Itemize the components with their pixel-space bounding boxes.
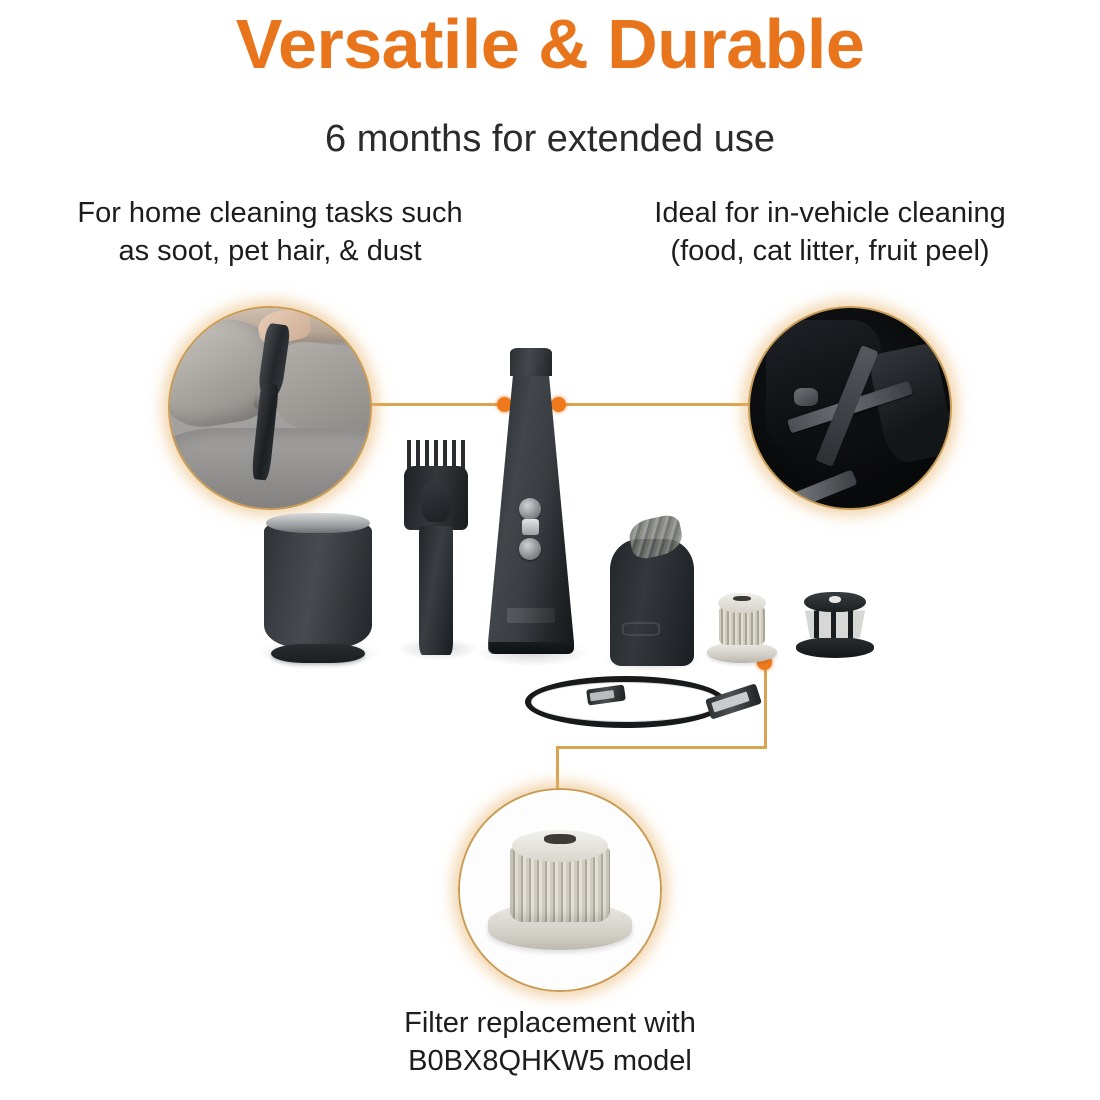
callout-bottom-photo xyxy=(458,788,662,992)
callout-bottom-caption: Filter replacement with B0BX8QHKW5 model xyxy=(290,1004,810,1081)
infographic-canvas: Versatile & Durable 6 months for extende… xyxy=(0,0,1100,1100)
callout-right-line2: (food, cat litter, fruit peel) xyxy=(570,232,1090,270)
hepa-filter-base xyxy=(707,642,776,663)
dust-cup-rim xyxy=(266,513,369,533)
pouch-body xyxy=(610,539,694,666)
brand-logo xyxy=(507,608,555,623)
callout-right-photo xyxy=(748,306,952,510)
vacuum-base xyxy=(489,642,573,654)
usb-a-connector-icon xyxy=(705,683,762,719)
product-storage-pouch xyxy=(610,518,694,666)
callout-left-photo xyxy=(168,306,372,510)
product-dust-cup xyxy=(262,513,374,663)
page-title: Versatile & Durable xyxy=(0,8,1100,82)
callout-bottom-line2: B0BX8QHKW5 model xyxy=(290,1042,810,1080)
product-handheld-vacuum xyxy=(488,348,574,654)
indicator-port-icon xyxy=(522,519,539,534)
filter-closeup-center-hole xyxy=(544,834,576,844)
product-brush-crevice-tool xyxy=(400,440,472,655)
connector-line-filter-horizontal xyxy=(556,746,767,749)
brush-head-pad xyxy=(422,483,451,522)
callout-left-line1: For home cleaning tasks such xyxy=(10,194,530,232)
callout-left-caption: For home cleaning tasks such as soot, pe… xyxy=(10,194,530,271)
connector-line-right xyxy=(556,403,752,406)
mesh-filter-screen xyxy=(802,610,868,638)
product-mesh-filter xyxy=(796,592,874,658)
vacuum-top-cap xyxy=(510,348,551,376)
mesh-filter-center-hole xyxy=(829,596,841,603)
hepa-filter-center-hole xyxy=(733,596,750,602)
product-hepa-filter xyxy=(706,593,778,663)
callout-bottom-line1: Filter replacement with xyxy=(290,1004,810,1042)
callout-left-line2: as soot, pet hair, & dust xyxy=(10,232,530,270)
connector-line-filter-vertical-right xyxy=(764,662,767,748)
car-seatbelt-buckle xyxy=(794,388,818,406)
mesh-filter-base-ring xyxy=(796,637,874,658)
dust-cup-body xyxy=(264,524,372,647)
pouch-seam xyxy=(622,622,661,637)
product-usb-cable xyxy=(520,672,760,734)
dust-cup-base xyxy=(271,644,365,664)
page-subtitle: 6 months for extended use xyxy=(0,118,1100,161)
callout-right-caption: Ideal for in-vehicle cleaning (food, cat… xyxy=(570,194,1090,271)
brush-shaft xyxy=(419,526,454,655)
usb-cable-loop xyxy=(525,676,727,728)
mode-button-icon xyxy=(519,538,541,560)
hepa-filter-pleats xyxy=(719,608,765,644)
callout-right-line1: Ideal for in-vehicle cleaning xyxy=(570,194,1090,232)
